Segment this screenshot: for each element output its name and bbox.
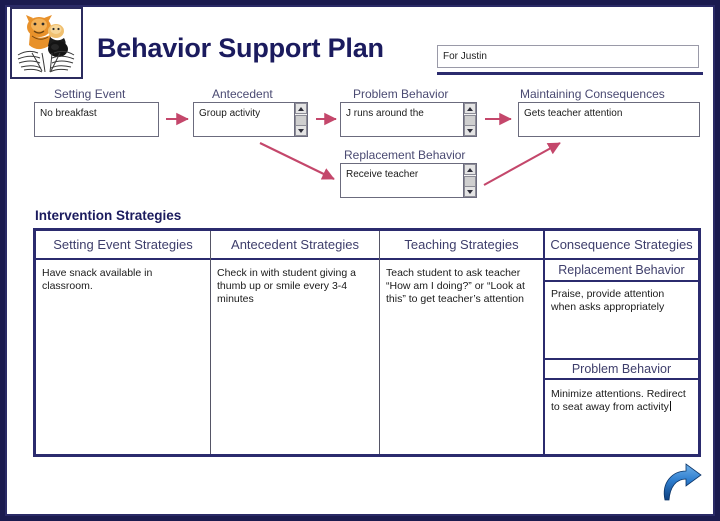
flow-value-problem-behavior: J runs around the — [346, 108, 424, 119]
scroll-up-icon[interactable] — [464, 164, 476, 175]
behavior-support-plan-slide: Behavior Support Plan For Justin Setting… — [0, 0, 720, 521]
flow-label-antecedent: Antecedent — [212, 87, 273, 101]
column-body[interactable]: Have snack available in classroom. — [36, 260, 210, 454]
column-body[interactable]: Check in with student giving a thumb up … — [211, 260, 379, 454]
table-column-consequence-strategies: Consequence Strategies Replacement Behav… — [545, 231, 698, 454]
title-divider — [437, 72, 703, 75]
flow-input-replacement-behavior[interactable]: Receive teacher — [340, 163, 477, 198]
scroll-down-icon[interactable] — [464, 125, 476, 136]
table-column-setting-event-strategies: Setting Event Strategies Have snack avai… — [36, 231, 210, 454]
table-column-antecedent-strategies: Antecedent Strategies Check in with stud… — [211, 231, 379, 454]
column-header: Consequence Strategies — [545, 231, 698, 260]
scrollbar-problem-behavior[interactable] — [463, 103, 476, 136]
subsection-header-problem-behavior: Problem Behavior — [545, 358, 698, 380]
column-header: Antecedent Strategies — [211, 231, 379, 260]
scroll-down-icon[interactable] — [295, 125, 307, 136]
flow-input-antecedent[interactable]: Group activity — [193, 102, 308, 137]
slide-inner-frame: Behavior Support Plan For Justin Setting… — [5, 5, 715, 516]
flow-value-setting-event: No breakfast — [40, 108, 97, 119]
flow-value-maintaining-consequences: Gets teacher attention — [524, 108, 622, 119]
section-title-intervention-strategies: Intervention Strategies — [35, 208, 181, 223]
intervention-strategies-table: Setting Event Strategies Have snack avai… — [33, 228, 701, 457]
scrollbar-replacement-behavior[interactable] — [463, 164, 476, 197]
column-header: Teaching Strategies — [380, 231, 543, 260]
page-title: Behavior Support Plan — [97, 33, 384, 64]
flow-input-maintaining-consequences[interactable]: Gets teacher attention — [518, 102, 700, 137]
flow-input-problem-behavior[interactable]: J runs around the — [340, 102, 477, 137]
flow-label-setting-event: Setting Event — [54, 87, 125, 101]
scroll-up-icon[interactable] — [295, 103, 307, 114]
subsection-body-problem-behavior[interactable]: Minimize attentions. Redirect to seat aw… — [545, 382, 698, 454]
flow-value-antecedent: Group activity — [199, 108, 260, 119]
scroll-down-icon[interactable] — [464, 186, 476, 197]
subsection-problem-behavior-text: Minimize attentions. Redirect to seat aw… — [551, 388, 686, 413]
flow-label-replacement-behavior: Replacement Behavior — [344, 148, 465, 162]
flow-label-problem-behavior: Problem Behavior — [353, 87, 448, 101]
next-arrow-icon[interactable] — [659, 462, 703, 502]
column-body[interactable]: Teach student to ask teacher “How am I d… — [380, 260, 543, 454]
connector-replacement-to-consequences — [484, 143, 560, 185]
subsection-body-replacement-behavior[interactable]: Praise, provide attention when asks appr… — [545, 282, 698, 358]
connector-antecedent-to-replacement — [260, 143, 334, 179]
plan-for-value: For Justin — [443, 51, 487, 62]
text-caret — [670, 401, 671, 411]
flow-input-setting-event[interactable]: No breakfast — [34, 102, 159, 137]
column-header: Setting Event Strategies — [36, 231, 210, 260]
plan-for-input[interactable]: For Justin — [437, 45, 699, 68]
scrollbar-antecedent[interactable] — [294, 103, 307, 136]
flow-value-replacement-behavior: Receive teacher — [346, 169, 418, 180]
tiger-mascot-logo-icon — [10, 7, 83, 79]
flow-label-maintaining-consequences: Maintaining Consequences — [520, 87, 665, 101]
table-column-teaching-strategies: Teaching Strategies Teach student to ask… — [380, 231, 543, 454]
scroll-up-icon[interactable] — [464, 103, 476, 114]
subsection-header-replacement-behavior: Replacement Behavior — [545, 260, 698, 282]
